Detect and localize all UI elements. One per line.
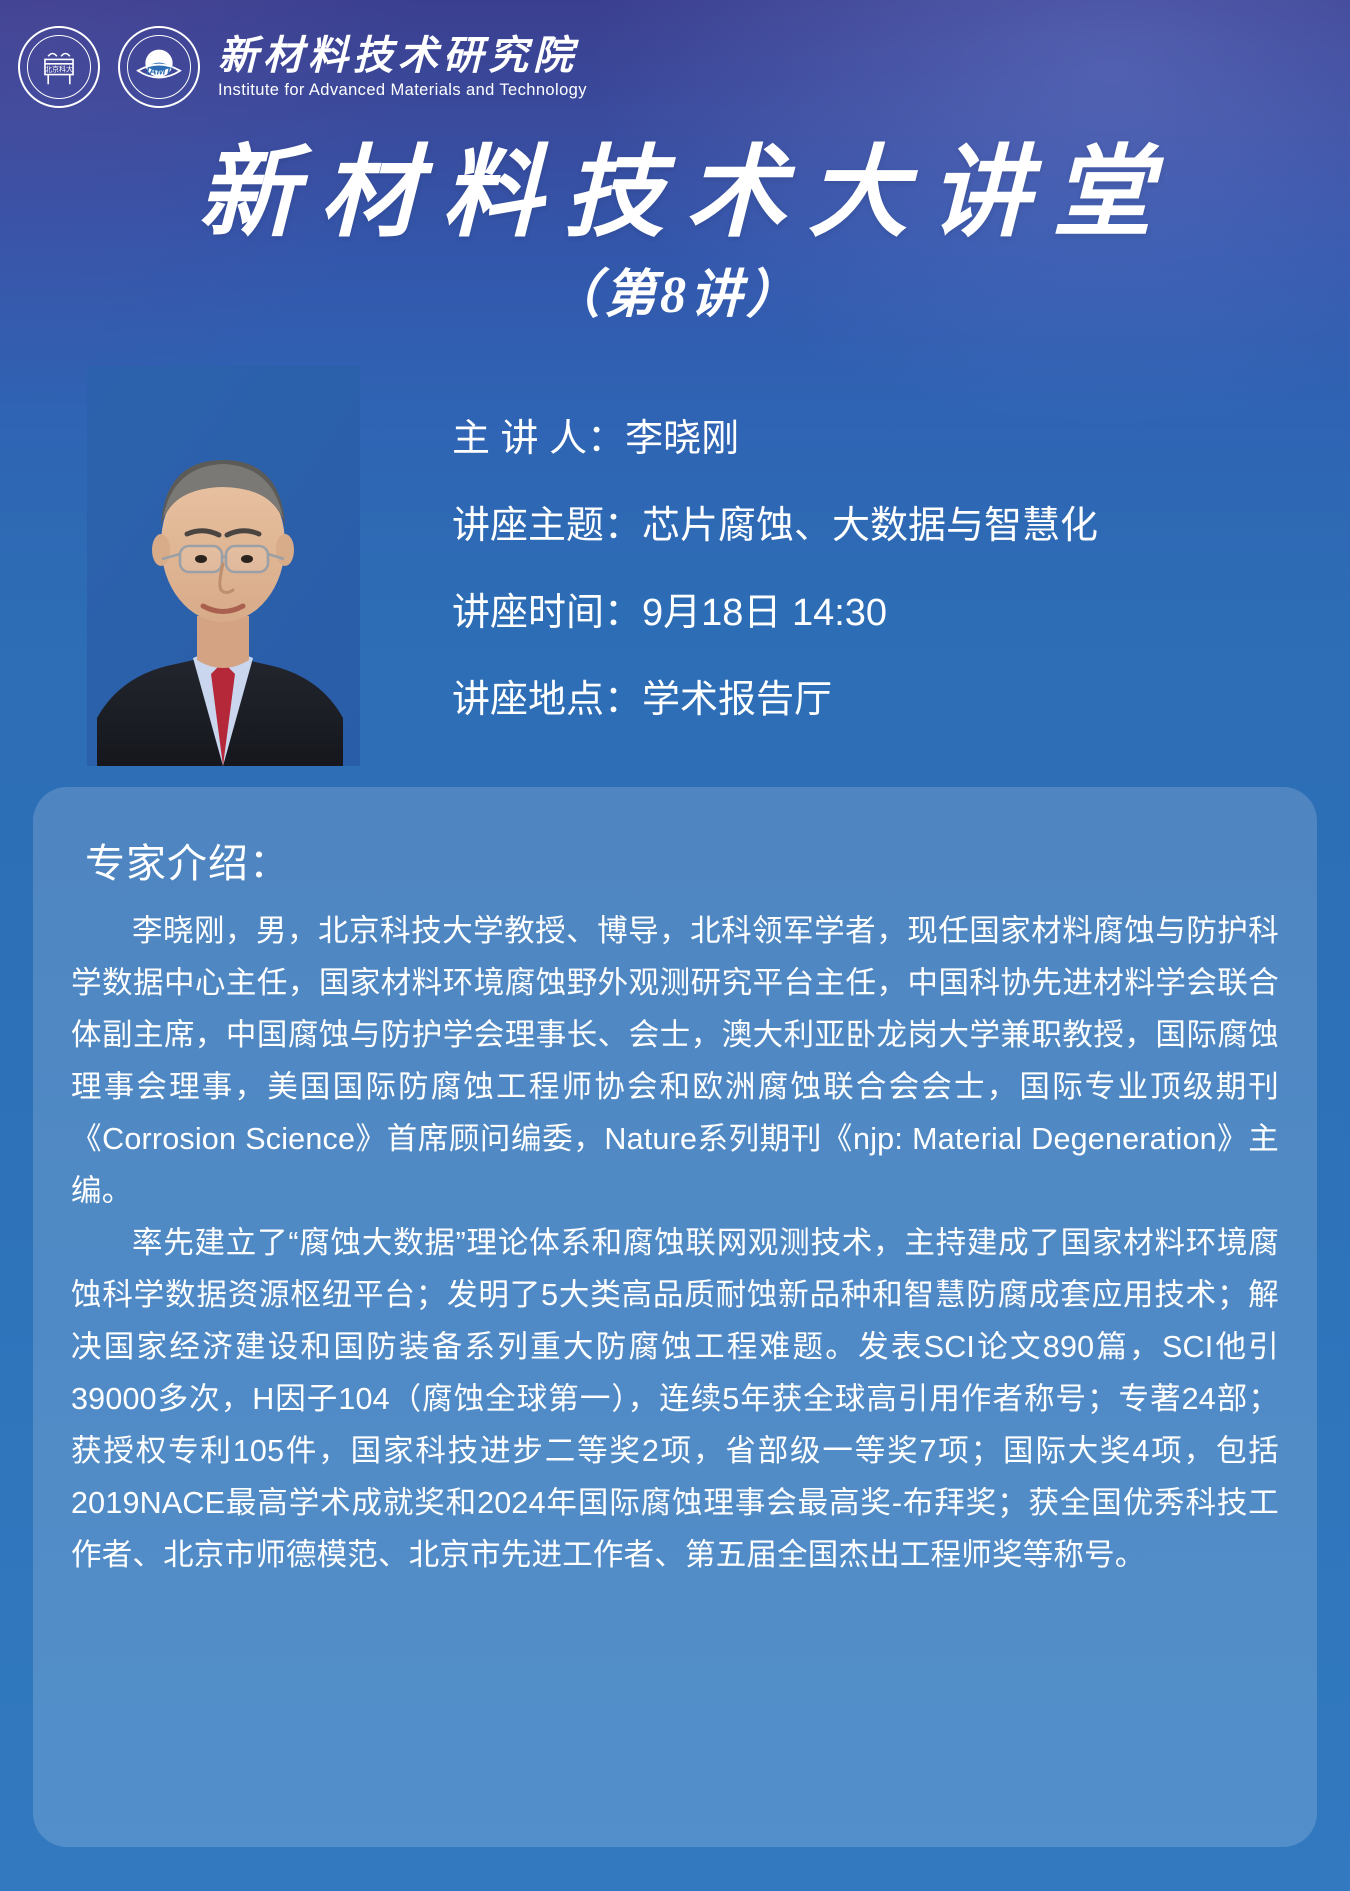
iamt-emblem-logo-icon: IAMT (118, 26, 200, 108)
lecture-info-block: 主 讲 人：李晓刚 讲座主题：芯片腐蚀、大数据与智慧化 讲座时间：9月18日 1… (452, 420, 1302, 719)
title-block: 新材料技术大讲堂 （第8讲） (0, 138, 1350, 327)
info-time-label: 讲座时间： (452, 592, 642, 634)
info-place-label: 讲座地点： (452, 679, 642, 721)
info-time: 讲座时间：9月18日 14:30 (452, 594, 1302, 632)
expert-paragraph: 李晓刚，男，北京科技大学教授、博导，北科领军学者，现任国家材料腐蚀与防护科学数据… (71, 905, 1279, 1217)
lecture-poster: 北京科大 IAMT 新材料技术研究院 Institute for Advance… (0, 0, 1350, 1891)
institute-name-cn: 新材料技术研究院 (218, 34, 587, 77)
expert-paragraph: 率先建立了“腐蚀大数据”理论体系和腐蚀联网观测技术，主持建成了国家材料环境腐蚀科… (71, 1217, 1279, 1581)
seal-inner-ring (27, 35, 91, 99)
institute-name-block: 新材料技术研究院 Institute for Advanced Material… (218, 34, 587, 100)
expert-intro-body: 李晓刚，男，北京科技大学教授、博导，北科领军学者，现任国家材料腐蚀与防护科学数据… (63, 905, 1287, 1581)
info-speaker-value: 李晓刚 (625, 418, 739, 460)
info-topic-value: 芯片腐蚀、大数据与智慧化 (642, 505, 1098, 547)
poster-header: 北京科大 IAMT 新材料技术研究院 Institute for Advance… (18, 26, 587, 108)
info-place-value: 学术报告厅 (642, 679, 832, 721)
info-topic: 讲座主题：芯片腐蚀、大数据与智慧化 (452, 507, 1302, 545)
poster-main-title: 新材料技术大讲堂 (0, 138, 1350, 250)
info-place: 讲座地点：学术报告厅 (452, 681, 1302, 719)
speaker-portrait (87, 366, 360, 766)
info-topic-label: 讲座主题： (452, 505, 642, 547)
info-time-value: 9月18日 14:30 (642, 592, 887, 634)
emblem-inner-ring (127, 35, 191, 99)
info-speaker-label: 主 讲 人： (452, 418, 625, 460)
ustb-seal-logo-icon: 北京科大 (18, 26, 100, 108)
info-speaker: 主 讲 人：李晓刚 (452, 420, 1302, 458)
expert-intro-card: 专家介绍： 李晓刚，男，北京科技大学教授、博导，北科领军学者，现任国家材料腐蚀与… (33, 787, 1317, 1847)
poster-sub-title: （第8讲） (0, 252, 1350, 327)
institute-name-en: Institute for Advanced Materials and Tec… (218, 81, 587, 100)
expert-intro-heading: 专家介绍： (85, 831, 1287, 889)
